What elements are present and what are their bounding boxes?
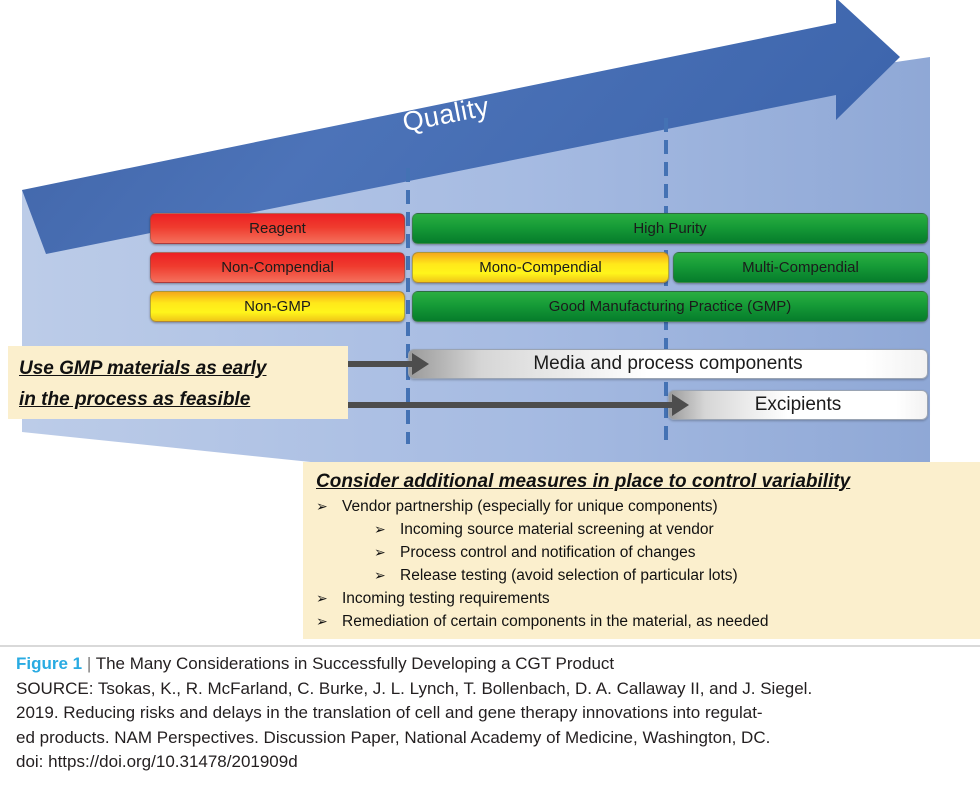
measure-item-label: Incoming source material screening at ve… [400, 518, 714, 541]
connector-arrowhead-media [412, 353, 429, 375]
measure-item: ➢Incoming source material screening at v… [316, 518, 971, 541]
measure-item-label: Process control and notification of chan… [400, 541, 696, 564]
bar-mono-compendial: Mono-Compendial [412, 252, 669, 283]
bullet-arrow-icon: ➢ [374, 541, 400, 564]
measure-item-label: Release testing (avoid selection of part… [400, 564, 738, 587]
bullet-arrow-icon: ➢ [316, 610, 342, 633]
callout-line-1: Use GMP materials as early [19, 353, 337, 384]
caption-title-line: Figure 1 | The Many Considerations in Su… [16, 652, 966, 677]
process-bar-label: Excipients [755, 394, 842, 416]
bullet-arrow-icon: ➢ [374, 518, 400, 541]
figure-number: Figure 1 [16, 654, 82, 673]
measure-item: ➢Vendor partnership (especially for uniq… [316, 495, 971, 518]
bullet-arrow-icon: ➢ [316, 495, 342, 518]
bar-high-purity: High Purity [412, 213, 928, 244]
process-bar-excipients: Excipients [668, 390, 928, 420]
measure-item: ➢Remediation of certain components in th… [316, 610, 971, 633]
measure-item-label: Remediation of certain components in the… [342, 610, 769, 633]
bar-label: Multi-Compendial [742, 259, 859, 276]
bar-label: Non-Compendial [221, 259, 334, 276]
callout-title: Consider additional measures in place to… [316, 469, 971, 495]
bar-label: Good Manufacturing Practice (GMP) [549, 298, 792, 315]
measure-item: ➢Incoming testing requirements [316, 587, 971, 610]
bar-non-compendial: Non-Compendial [150, 252, 405, 283]
bar-label: Mono-Compendial [479, 259, 602, 276]
callout-additional-measures: Consider additional measures in place to… [303, 462, 980, 639]
measure-item: ➢Release testing (avoid selection of par… [316, 564, 971, 587]
bar-gmp: Good Manufacturing Practice (GMP) [412, 291, 928, 322]
connector-line-excipients [330, 402, 674, 408]
bar-multi-compendial: Multi-Compendial [673, 252, 928, 283]
callout-line-2: in the process as feasible [19, 384, 337, 415]
bar-label: High Purity [633, 220, 706, 237]
bullet-arrow-icon: ➢ [316, 587, 342, 610]
bar-reagent: Reagent [150, 213, 405, 244]
bar-label: Non-GMP [244, 298, 311, 315]
process-bar-media: Media and process components [408, 349, 928, 379]
caption-source-line-3: ed products. NAM Perspectives. Discussio… [16, 726, 966, 751]
caption-source-line-1: SOURCE: Tsokas, K., R. McFarland, C. Bur… [16, 677, 966, 702]
callout-gmp-early: Use GMP materials as early in the proces… [8, 346, 348, 419]
caption-separator: | [87, 654, 91, 673]
figure-caption: Figure 1 | The Many Considerations in Su… [16, 652, 966, 775]
measures-list: ➢Vendor partnership (especially for uniq… [316, 495, 971, 633]
caption-source-line-2: 2019. Reducing risks and delays in the t… [16, 701, 966, 726]
measure-item-label: Incoming testing requirements [342, 587, 550, 610]
bullet-arrow-icon: ➢ [374, 564, 400, 587]
bar-label: Reagent [249, 220, 306, 237]
caption-divider [0, 645, 980, 647]
process-bar-label: Media and process components [533, 353, 802, 375]
caption-source-line-4: doi: https://doi.org/10.31478/201909d [16, 750, 966, 775]
measure-item: ➢Process control and notification of cha… [316, 541, 971, 564]
figure-canvas: Quality Reagent High Purity Non-Compendi… [0, 0, 980, 799]
bar-non-gmp: Non-GMP [150, 291, 405, 322]
connector-arrowhead-excipients [672, 394, 689, 416]
measure-item-label: Vendor partnership (especially for uniqu… [342, 495, 718, 518]
caption-title: The Many Considerations in Successfully … [96, 654, 614, 673]
